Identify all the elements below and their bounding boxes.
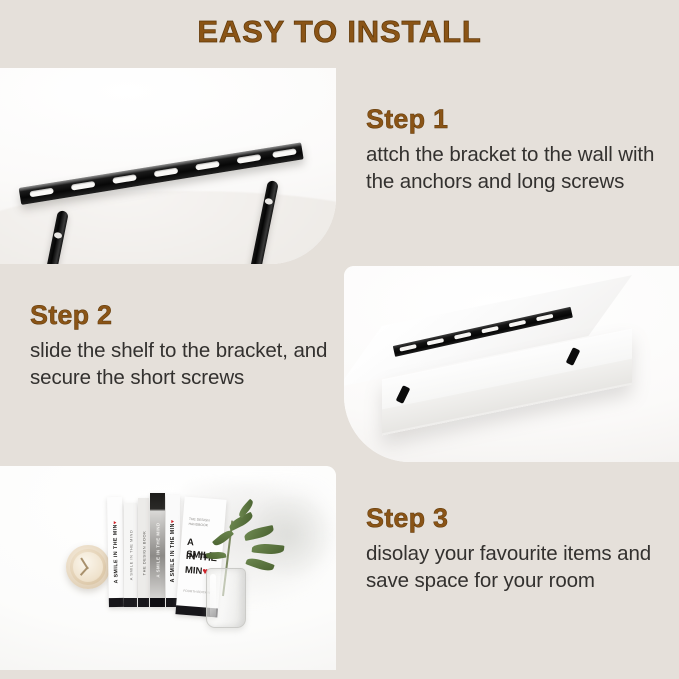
bracket-slot [481, 326, 498, 334]
book-1-base [109, 598, 124, 607]
step-2-image-panel [344, 266, 679, 462]
bracket-slot [427, 338, 444, 346]
rod-screw-left [54, 232, 63, 239]
bracket-slot [29, 188, 54, 198]
wooden-clock [66, 545, 110, 589]
book-4-spine-text: A SMILE IN THE MIND [155, 522, 160, 577]
glass-vase [206, 568, 246, 628]
bracket-scene [0, 68, 336, 264]
step-2-body: slide the shelf to the bracket, and secu… [30, 337, 330, 392]
page-title: EASY TO INSTALL [0, 14, 679, 50]
panel-3-objects: A SMILE IN THE MIN♥ A SMILE IN THE MIND … [0, 466, 336, 670]
easy-to-install-infographic: EASY TO INSTALL Step 1 att [0, 0, 679, 679]
step-1-heading: Step 1 [366, 104, 666, 135]
step-1-body: attch the bracket to the wall with the a… [366, 141, 666, 196]
step-2-text-block: Step 2 slide the shelf to the bracket, a… [30, 300, 330, 392]
book-3-spine-text: THE DESIGN BOOK [141, 530, 146, 575]
book-3: THE DESIGN BOOK [138, 498, 149, 607]
clock-face [73, 552, 103, 582]
step-1-text-block: Step 1 attch the bracket to the wall wit… [366, 104, 666, 196]
book-2-base [124, 598, 137, 607]
rod-screw-right [264, 198, 273, 205]
panel-3-contents-clip: A SMILE IN THE MIN♥ A SMILE IN THE MIND … [0, 466, 336, 670]
step-2-heading: Step 2 [30, 300, 330, 331]
bracket-slot [154, 167, 179, 177]
book-cover-title-line-3: MIN♥ [184, 565, 208, 578]
bracket-slot [71, 181, 96, 191]
bracket-slot [112, 174, 137, 184]
book-4: A SMILE IN THE MIND [150, 493, 165, 607]
book-2: A SMILE IN THE MIND [124, 503, 137, 607]
step-3-body: disolay your favourite items and save sp… [366, 540, 666, 595]
shelf-assembly-scene [344, 266, 679, 462]
book-1-spine-text: A SMILE IN THE MIN♥ [112, 521, 119, 584]
bracket-slot [454, 332, 471, 340]
clock-hand [80, 566, 89, 576]
bracket-slot [509, 320, 526, 328]
book-cover-subtitle: THE DESIGN HANDBOOK [188, 517, 225, 530]
bracket-slot [399, 344, 416, 352]
book-4-base [150, 598, 165, 607]
bracket-slot [272, 148, 297, 158]
bracket-slot [536, 314, 553, 322]
book-3-base [138, 598, 149, 607]
book-2-spine-text: A SMILE IN THE MIND [128, 530, 133, 581]
step-3-text-block: Step 3 disolay your favourite items and … [366, 503, 666, 595]
step-1-image-panel [0, 68, 336, 264]
bracket-slot [195, 161, 220, 171]
step-3-heading: Step 3 [366, 503, 666, 534]
bracket-slot [237, 154, 262, 164]
book-1: A SMILE IN THE MIN♥ [107, 497, 124, 607]
book-5-spine-text: A SMILE IN THE MIN♥ [170, 520, 176, 583]
